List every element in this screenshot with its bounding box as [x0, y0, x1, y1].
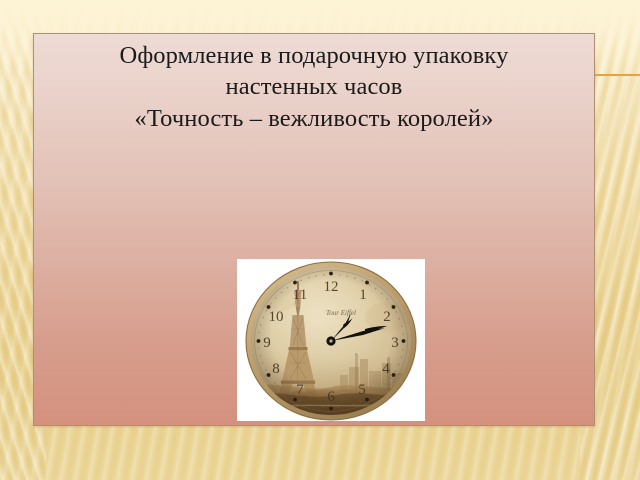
slide-canvas: Оформление в подарочную упаковку настенн…	[0, 0, 640, 480]
page-title: Оформление в подарочную упаковку настенн…	[34, 40, 594, 134]
content-panel: Оформление в подарочную упаковку настенн…	[33, 33, 595, 426]
clock-vignette	[251, 267, 411, 415]
title-line-2: настенных часов	[48, 71, 580, 102]
clock-image: 12 1 2 3 4 5 6 7 8 9 10 11 Tour Eiffel	[237, 259, 425, 421]
title-line-1: Оформление в подарочную упаковку	[48, 40, 580, 71]
title-line-3: «Точность – вежливость королей»	[48, 103, 580, 134]
clock-picture: 12 1 2 3 4 5 6 7 8 9 10 11 Tour Eiffel	[237, 259, 425, 421]
